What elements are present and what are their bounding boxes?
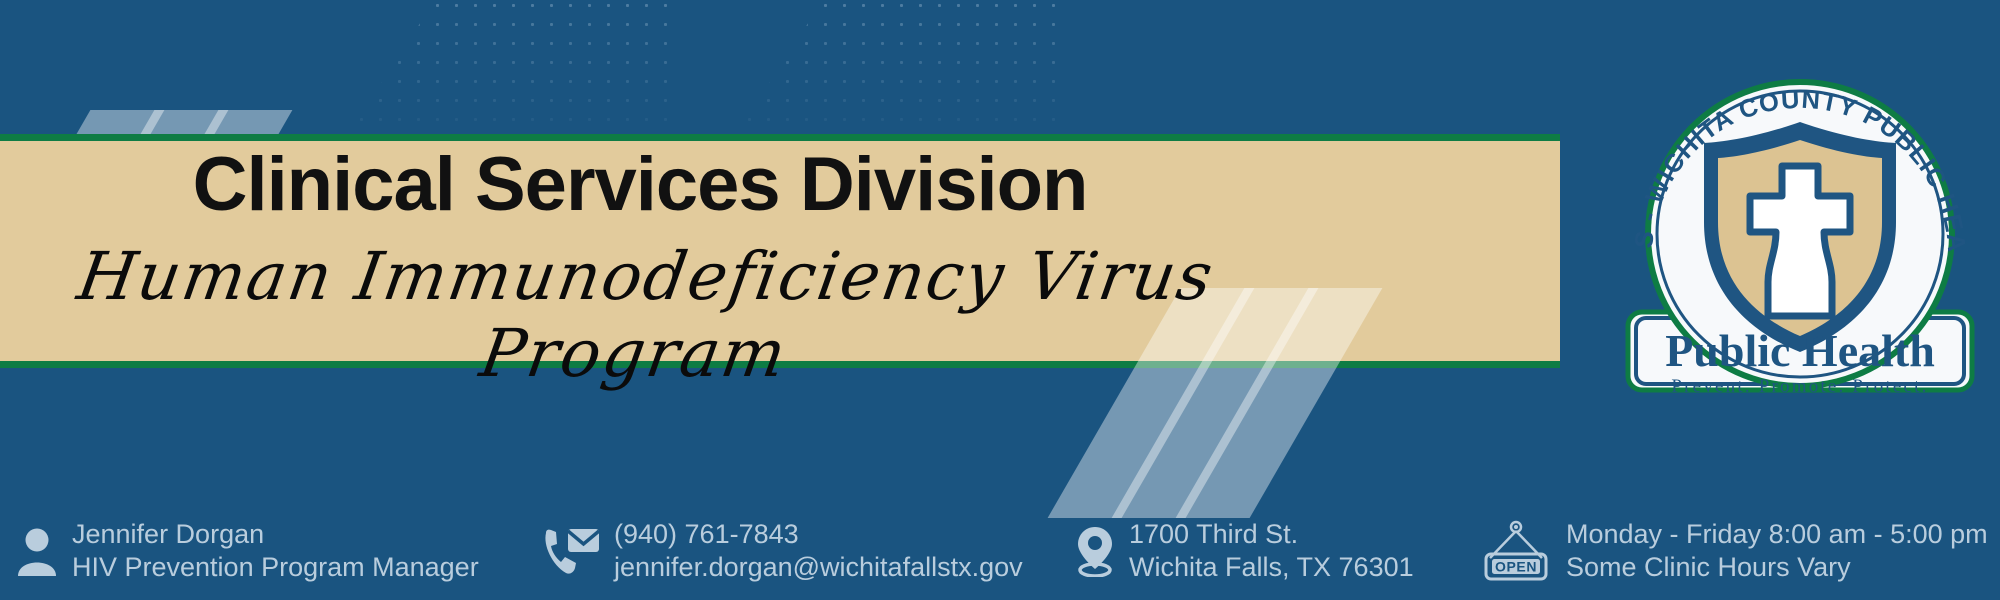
seal-tagline: Prevent. Promote. Protect. bbox=[1671, 376, 1928, 397]
page-subtitle: Human Immunodeficiency Virus Program bbox=[0, 238, 1292, 392]
dot-pattern-left bbox=[352, 0, 682, 128]
hours-note: Some Clinic Hours Vary bbox=[1566, 551, 1988, 584]
contact-item-phone-email: (940) 761-7843 jennifer.dorgan@wichitafa… bbox=[540, 518, 1023, 584]
contact-phone-number[interactable]: (940) 761-7843 bbox=[614, 518, 1023, 551]
contact-person-title: HIV Prevention Program Manager bbox=[72, 551, 479, 584]
contact-address-street: 1700 Third St. bbox=[1129, 518, 1414, 551]
page-title: Clinical Services Division bbox=[0, 146, 1280, 224]
map-pin-icon bbox=[1075, 525, 1115, 577]
person-icon bbox=[16, 526, 58, 576]
contact-email-address[interactable]: jennifer.dorgan@wichitafallstx.gov bbox=[614, 551, 1023, 584]
contact-item-address: 1700 Third St. Wichita Falls, TX 76301 bbox=[1075, 518, 1414, 584]
open-sign-icon: OPEN bbox=[1480, 520, 1552, 582]
program-banner: Clinical Services Division Human Immunod… bbox=[0, 0, 2000, 600]
phone-envelope-icon bbox=[540, 525, 600, 577]
contact-address-city: Wichita Falls, TX 76301 bbox=[1129, 551, 1414, 584]
public-health-seal: WICHITA FALLS - WICHITA COUNTY PUBLIC HE… bbox=[1610, 44, 1990, 399]
hours-weekday: Monday - Friday 8:00 am - 5:00 pm bbox=[1566, 518, 1988, 551]
contact-item-hours: OPEN Monday - Friday 8:00 am - 5:00 pm S… bbox=[1480, 518, 1988, 584]
dot-pattern-right bbox=[740, 0, 1070, 128]
open-sign-label: OPEN bbox=[1495, 559, 1537, 575]
seal-wordmark: Public Health bbox=[1665, 325, 1935, 376]
contact-item-person: Jennifer Dorgan HIV Prevention Program M… bbox=[16, 518, 479, 584]
contact-strip: Jennifer Dorgan HIV Prevention Program M… bbox=[0, 440, 2000, 600]
contact-person-name: Jennifer Dorgan bbox=[72, 518, 479, 551]
